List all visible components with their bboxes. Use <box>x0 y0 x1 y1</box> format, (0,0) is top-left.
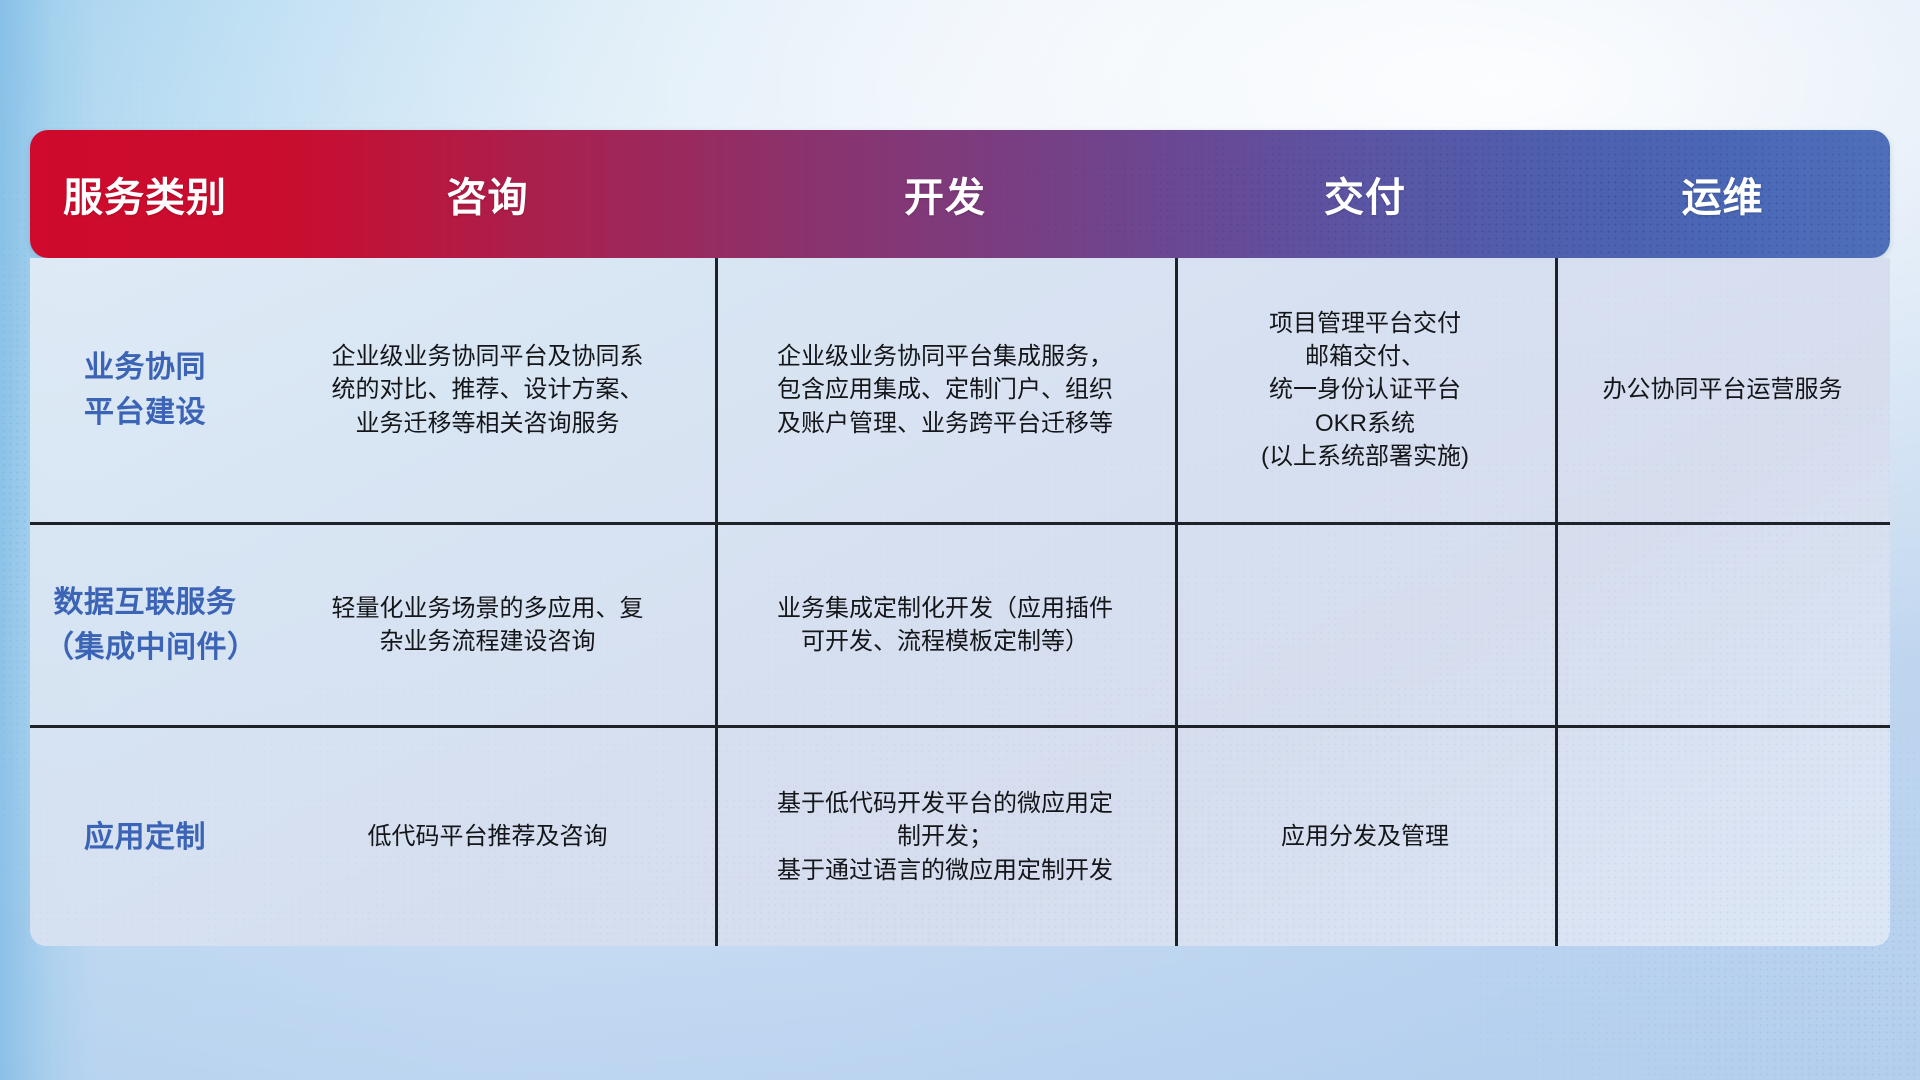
row-cell-consulting: 低代码平台推荐及咨询 <box>260 820 715 853</box>
row-cell-consulting: 轻量化业务场景的多应用、复 杂业务流程建设咨询 <box>260 592 715 658</box>
header-cell-consulting: 咨询 <box>260 165 715 223</box>
row-cell-operations: 办公协同平台运营服务 <box>1555 373 1890 406</box>
table-body: 业务协同 平台建设 企业级业务协同平台及协同系 统的对比、推荐、设计方案、 业务… <box>30 258 1890 946</box>
service-matrix-table: 服务类别 咨询 开发 交付 运维 业务协同 平台建设 企业级业务协同平台及协同系… <box>30 130 1890 946</box>
header-cell-service-category: 服务类别 <box>30 165 260 223</box>
row-category-label: 应用定制 <box>30 815 260 860</box>
table-header-row: 服务类别 咨询 开发 交付 运维 <box>30 130 1890 258</box>
header-cell-operations: 运维 <box>1555 165 1890 223</box>
row-cell-development: 业务集成定制化开发（应用插件 可开发、流程模板定制等） <box>715 592 1175 658</box>
row-cell-delivery: 应用分发及管理 <box>1175 820 1555 853</box>
header-cell-delivery: 交付 <box>1175 165 1555 223</box>
row-cell-development: 企业级业务协同平台集成服务， 包含应用集成、定制门户、组织 及账户管理、业务跨平… <box>715 340 1175 439</box>
row-category-label: 数据互联服务 （集成中间件） <box>30 580 260 670</box>
table-row: 数据互联服务 （集成中间件） 轻量化业务场景的多应用、复 杂业务流程建设咨询 业… <box>30 525 1890 725</box>
row-cell-consulting: 企业级业务协同平台及协同系 统的对比、推荐、设计方案、 业务迁移等相关咨询服务 <box>260 340 715 439</box>
row-cell-development: 基于低代码开发平台的微应用定 制开发； 基于通过语言的微应用定制开发 <box>715 787 1175 886</box>
row-cell-delivery: 项目管理平台交付 邮箱交付、 统一身份认证平台 OKR系统 (以上系统部署实施) <box>1175 307 1555 473</box>
table-row: 业务协同 平台建设 企业级业务协同平台及协同系 统的对比、推荐、设计方案、 业务… <box>30 258 1890 522</box>
row-category-label: 业务协同 平台建设 <box>30 345 260 435</box>
table-row: 应用定制 低代码平台推荐及咨询 基于低代码开发平台的微应用定 制开发； 基于通过… <box>30 728 1890 946</box>
header-cell-development: 开发 <box>715 165 1175 223</box>
